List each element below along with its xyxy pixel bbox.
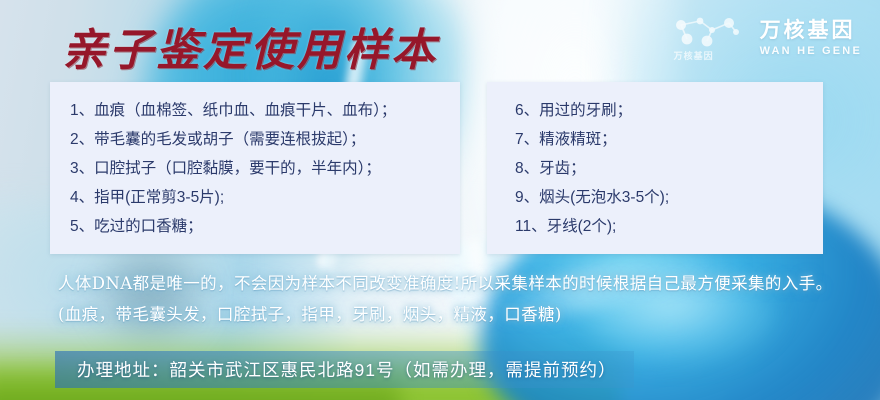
list-item: 1、血痕（血棉签、纸巾血、血痕干片、血布）； <box>50 96 460 125</box>
brand-wordmark: 万核基因 WAN HE GENE <box>760 19 862 57</box>
molecule-network-icon: 万核基因 <box>674 16 750 60</box>
list-item: 11、牙线(2个); <box>487 212 823 241</box>
sample-list-panel-left: 1、血痕（血棉签、纸巾血、血痕干片、血布）； 2、带毛囊的毛发或胡子（需要连根拔… <box>50 82 460 254</box>
list-item: 9、烟头(无泡水3-5个); <box>487 183 823 212</box>
brand-logo: 万核基因 万核基因 WAN HE GENE <box>674 16 862 60</box>
explanatory-note: 人体DNA都是唯一的，不会因为样本不同改变准确度!所以采集样本的时候根据自己最方… <box>58 268 838 330</box>
logo-mark-caption: 万核基因 <box>674 49 714 62</box>
page-title: 亲子鉴定使用样本 <box>62 14 438 78</box>
list-item: 3、口腔拭子（口腔黏膜，要干的，半年内）； <box>50 154 460 183</box>
list-item: 5、吃过的口香糖； <box>50 212 460 241</box>
list-item: 6、用过的牙刷； <box>487 96 823 125</box>
poster-canvas: 亲子鉴定使用样本 <box>0 0 880 400</box>
list-item: 4、指甲(正常剪3-5片); <box>50 183 460 212</box>
sample-list-left: 1、血痕（血棉签、纸巾血、血痕干片、血布）； 2、带毛囊的毛发或胡子（需要连根拔… <box>50 82 460 241</box>
address-banner: 办理地址：韶关市武江区惠民北路91号（如需办理，需提前预约） <box>55 351 634 388</box>
brand-name-en: WAN HE GENE <box>760 45 862 57</box>
sample-list-right: 6、用过的牙刷； 7、精液精斑； 8、牙齿； 9、烟头(无泡水3-5个); 11… <box>487 82 823 241</box>
address-text: 办理地址：韶关市武江区惠民北路91号（如需办理，需提前预约） <box>77 357 616 382</box>
brand-name-cn: 万核基因 <box>760 19 856 42</box>
sample-list-panel-right: 6、用过的牙刷； 7、精液精斑； 8、牙齿； 9、烟头(无泡水3-5个); 11… <box>487 82 823 254</box>
list-item: 8、牙齿； <box>487 154 823 183</box>
list-item: 7、精液精斑； <box>487 125 823 154</box>
list-item: 2、带毛囊的毛发或胡子（需要连根拔起）； <box>50 125 460 154</box>
